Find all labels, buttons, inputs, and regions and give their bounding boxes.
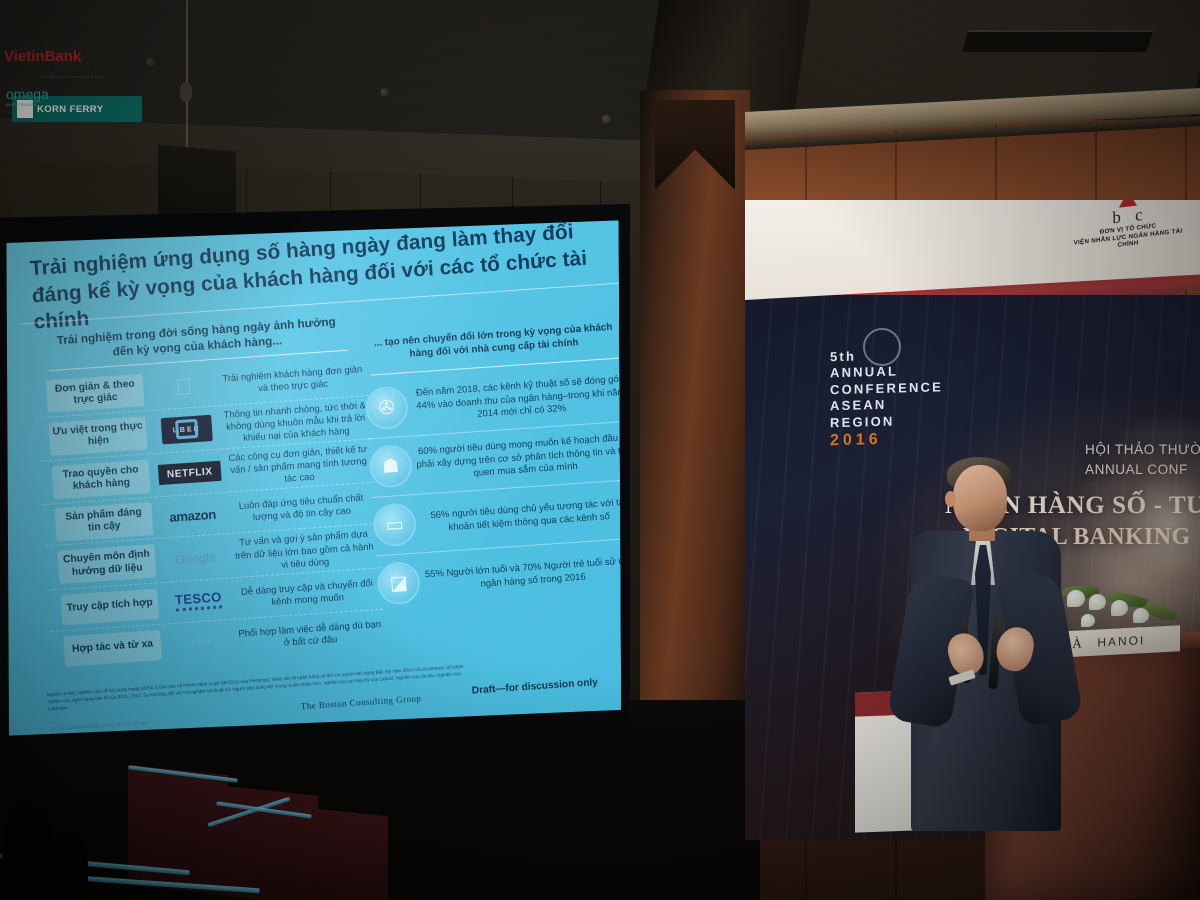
google-logo-text: Google (175, 550, 217, 567)
right-column-header: ... tạo nên chuyển đổi lớn trong kỳ vọng… (367, 321, 621, 364)
google-logo: Google (160, 539, 231, 578)
banner-subtitle-block: HỘI THẢO THƯỜN ANNUAL CONF (1085, 440, 1200, 481)
apple-logo:  (148, 368, 219, 407)
statistic-text: 60% người tiêu dùng mong muốn kế hoạch đ… (415, 431, 622, 484)
statistic-rows: ✇ Đến năm 2018, các kênh kỹ thuật số sẽ … (364, 363, 622, 614)
draft-note: Draft—for discussion only (471, 677, 598, 697)
bcg-logo-sub: The Boston Consulting Group (20, 74, 125, 79)
statistic-text: 56% người tiêu dùng chủ yếu tương tác vớ… (419, 496, 621, 536)
banner-edition-block: 5th ANNUAL CONFERENCE ASEAN REGION 2016 (830, 347, 925, 452)
uber-logo: UBER (151, 410, 222, 449)
experience-description: Trải nghiệm khách hàng đơn giản và theo … (217, 363, 368, 398)
experience-description: Tư vấn và gợi ý sản phẩm dựa trên dữ liệ… (229, 527, 381, 574)
amazon-logo: amazon (157, 496, 228, 535)
amazon-logo-text: amazon (169, 507, 216, 525)
audience-silhouette (2, 804, 54, 900)
handshake-icon: ✇ (364, 385, 409, 430)
experience-label: Truy cập tích hợp (60, 588, 159, 625)
projection-screen: Trải nghiệm ứng dụng số hàng ngày đang l… (3, 220, 622, 735)
hanging-cable (186, 0, 188, 150)
laptop-icon: ▭ (372, 502, 417, 547)
slack-logo: slack (166, 622, 237, 661)
experience-description: Phối hợp làm việc dễ dàng dù bạn ở bất c… (235, 617, 386, 652)
experience-label: Trao quyền cho khách hàng (52, 459, 151, 499)
experience-label: Sản phẩm đáng tin cậy (54, 502, 153, 542)
seat-block (268, 804, 388, 900)
speaker-ear (945, 491, 956, 507)
slide-source-note: Nguồn: S-Net: Nghiên cứu về Sử dụng mạng… (47, 663, 472, 713)
ceiling-light-dot (602, 115, 611, 124)
audience-silhouette (48, 828, 88, 900)
omega-logo-sub: performance (6, 102, 49, 107)
tesco-logo: TESCO (163, 581, 234, 620)
banner-edition-line2: CONFERENCE (830, 380, 925, 399)
statistic-text: 55% Người lớn tuổi và 70% Người trẻ tuổi… (423, 554, 621, 594)
bcg-wordmark: The Boston Consulting Group (300, 693, 421, 711)
experience-description: Các công cụ đơn giản, thiết kế tư vấn / … (223, 443, 375, 490)
vietinbank-logo: VietinBank (4, 48, 81, 65)
omega-logo: omega performance (6, 86, 49, 107)
conference-photo-scene: Trải nghiệm ứng dụng số hàng ngày đang l… (0, 0, 1200, 900)
slide-content: Trải nghiệm ứng dụng số hàng ngày đang l… (4, 220, 622, 735)
speaker-head (953, 465, 1007, 531)
slack-logo-text: slack (191, 637, 212, 647)
omega-logo-text: omega (6, 86, 49, 102)
experience-description: Luôn đáp ứng tiêu chuẩn chất lượng và độ… (226, 491, 377, 526)
person-target-icon: ☗ (368, 444, 413, 489)
experience-label: Ưu việt trong thực hiện (49, 416, 148, 456)
statistic-text: Đến năm 2018, các kênh kỹ thuật số sẽ đó… (411, 372, 622, 425)
wall-pillar (640, 90, 750, 790)
banner-edition-year: 2016 (830, 429, 925, 452)
organizer-logo: b c ĐƠN VỊ TỔ CHỨC VIỆN NHÂN LỰC NGÂN HÀ… (1063, 200, 1193, 255)
cable-knot (180, 82, 192, 102)
tesco-logo-text: TESCO (174, 589, 222, 611)
experience-label: Hợp tác và từ xa (63, 630, 162, 667)
experience-rows: Đơn giản & theo trực giác  Trải nghiệm … (33, 355, 386, 673)
experience-description: Thông tin nhanh chóng, tức thời & không … (220, 399, 372, 446)
netflix-logo-text: NETFLIX (158, 461, 222, 485)
ceiling-vent (962, 30, 1153, 52)
banner-subtitle-vn: HỘI THẢO THƯỜN (1085, 440, 1200, 460)
speaker-person (905, 455, 1080, 900)
netflix-logo: NETFLIX (154, 454, 225, 493)
experience-label: Chuyên môn định hướng dữ liệu (57, 544, 156, 584)
ceiling-light-dot (146, 58, 155, 67)
banner-subtitle-en: ANNUAL CONF (1085, 460, 1200, 480)
chart-icon: ◪ (376, 561, 421, 606)
uber-logo-text: UBER (161, 415, 213, 445)
experience-description: Dễ dàng truy cập và chuyển đổi kênh mong… (232, 576, 383, 611)
experience-label: Đơn giản & theo trực giác (46, 373, 145, 413)
ceiling-light-dot (380, 88, 389, 97)
